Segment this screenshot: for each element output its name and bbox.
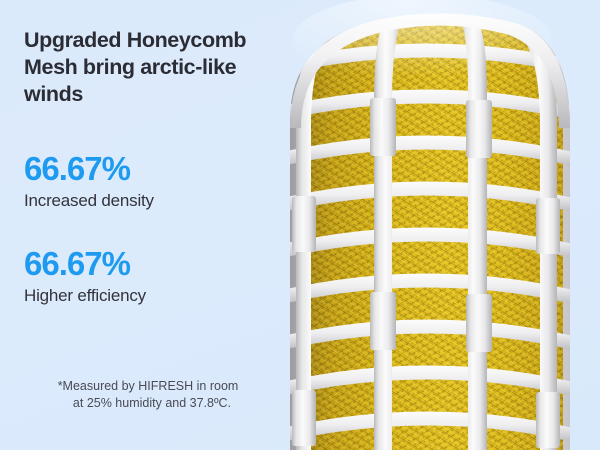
stat-increased-density: 66.67% Increased density [24, 150, 154, 211]
footnote-line-1: *Measured by HIFRESH in room [22, 378, 274, 395]
stat-label: Higher efficiency [24, 285, 146, 306]
stat-value: 66.67% [24, 245, 146, 283]
marketing-banner: Upgraded Honeycomb Mesh bring arctic-lik… [0, 0, 600, 450]
stat-higher-efficiency: 66.67% Higher efficiency [24, 245, 146, 306]
page-title: Upgraded Honeycomb Mesh bring arctic-lik… [24, 27, 290, 108]
copy-column: Upgraded Honeycomb Mesh bring arctic-lik… [0, 0, 300, 450]
stat-value: 66.67% [24, 150, 154, 188]
stat-label: Increased density [24, 190, 154, 211]
product-image-honeycomb-filter [282, 0, 600, 450]
footnote-line-2: at 25% humidity and 37.8ºC. [22, 395, 274, 412]
footnote-disclaimer: *Measured by HIFRESH in room at 25% humi… [22, 378, 274, 412]
